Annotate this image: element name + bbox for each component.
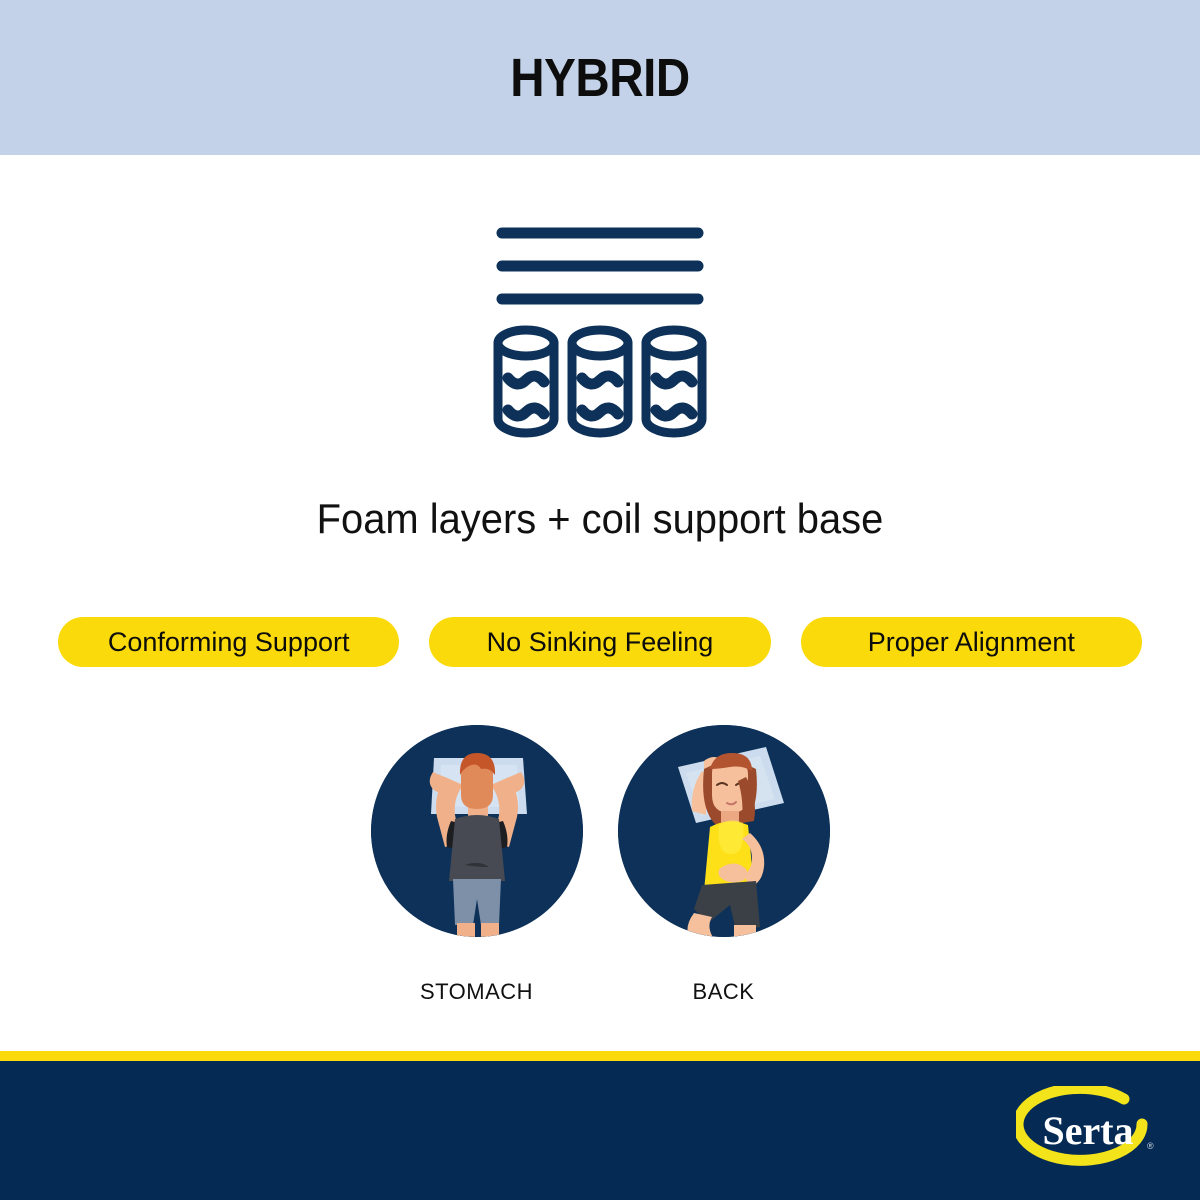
serta-wordmark: Serta	[1042, 1108, 1133, 1153]
benefit-pill-proper-alignment[interactable]: Proper Alignment	[801, 617, 1142, 667]
benefit-pill-conforming-support[interactable]: Conforming Support	[58, 617, 399, 667]
hybrid-mattress-icon	[480, 215, 720, 445]
stomach-sleeper-illustration	[371, 725, 583, 937]
serta-logo-mark: Serta ®	[1016, 1086, 1164, 1178]
serta-logo[interactable]: Serta ®	[1016, 1086, 1164, 1178]
support-coil-1	[498, 330, 554, 433]
page-title: HYBRID	[510, 47, 690, 109]
sleep-position-stomach[interactable]: STOMACH	[371, 725, 583, 1005]
sleep-position-label-back: BACK	[693, 979, 755, 1005]
sleep-position-back[interactable]: BACK	[618, 725, 830, 1005]
back-sleeper-illustration	[618, 725, 830, 937]
sleep-position-label-stomach: STOMACH	[420, 979, 533, 1005]
benefit-pill-no-sinking-feeling[interactable]: No Sinking Feeling	[429, 617, 770, 667]
infographic-page: HYBRID	[0, 0, 1200, 1200]
support-coil-2	[572, 330, 628, 433]
foam-layer-bars	[502, 233, 698, 299]
header-band: HYBRID	[0, 0, 1200, 155]
hybrid-icon-container	[0, 200, 1200, 460]
footer-accent-stripe	[0, 1051, 1200, 1061]
back-sleeper-circle	[618, 725, 830, 937]
mattress-description: Foam layers + coil support base	[30, 495, 1170, 543]
support-coil-3	[646, 330, 702, 433]
sleep-position-row: STOMACH	[0, 725, 1200, 1005]
stomach-sleeper-circle	[371, 725, 583, 937]
registered-trademark-icon: ®	[1147, 1141, 1154, 1151]
benefit-pill-row: Conforming Support No Sinking Feeling Pr…	[58, 617, 1142, 667]
